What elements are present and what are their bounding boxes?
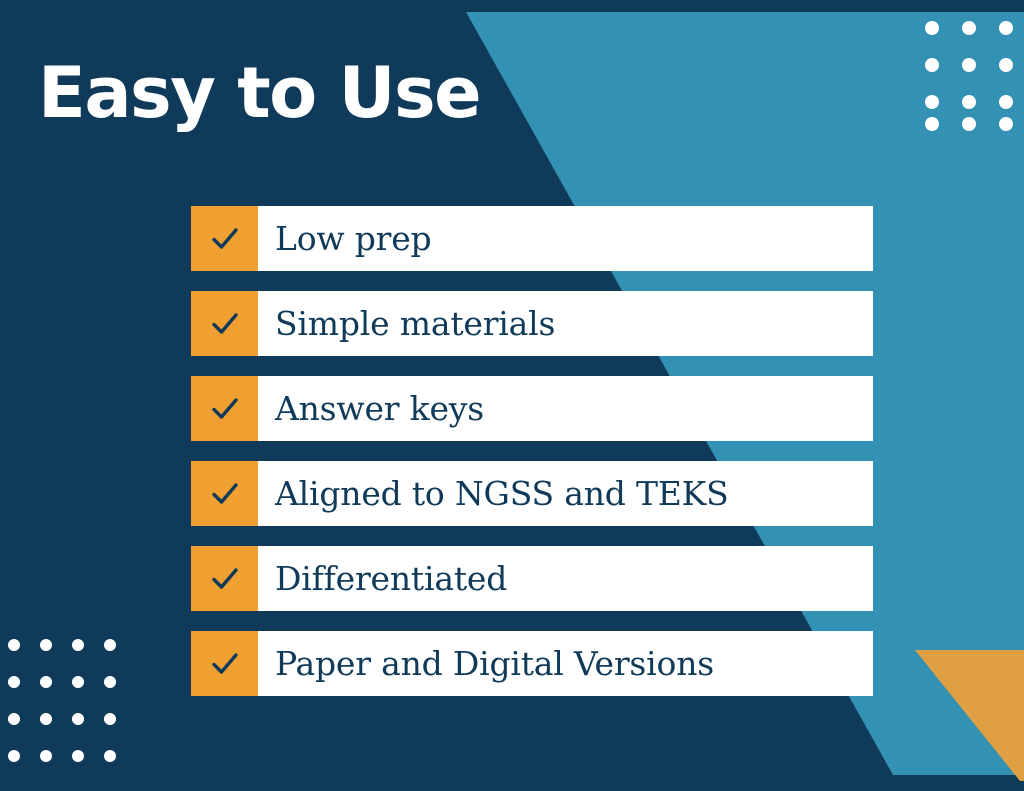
page-title: Easy to Use bbox=[38, 58, 480, 128]
list-item[interactable]: Aligned to NGSS and TEKS bbox=[191, 461, 873, 526]
list-item-label: Simple materials bbox=[258, 291, 873, 356]
list-item-label: Paper and Digital Versions bbox=[258, 631, 873, 696]
check-icon bbox=[191, 291, 258, 356]
list-item-label: Aligned to NGSS and TEKS bbox=[258, 461, 873, 526]
check-icon bbox=[191, 376, 258, 441]
slide-canvas: Easy to Use Low prep Simple materials bbox=[0, 0, 1024, 791]
check-icon bbox=[191, 546, 258, 611]
check-icon bbox=[191, 206, 258, 271]
list-item-label: Low prep bbox=[258, 206, 873, 271]
list-item[interactable]: Differentiated bbox=[191, 546, 873, 611]
list-item[interactable]: Simple materials bbox=[191, 291, 873, 356]
gold-triangle-body bbox=[915, 650, 1024, 781]
check-icon bbox=[191, 461, 258, 526]
checklist: Low prep Simple materials Answer keys bbox=[191, 206, 873, 696]
list-item[interactable]: Answer keys bbox=[191, 376, 873, 441]
list-item[interactable]: Paper and Digital Versions bbox=[191, 631, 873, 696]
list-item-label: Differentiated bbox=[258, 546, 873, 611]
list-item[interactable]: Low prep bbox=[191, 206, 873, 271]
list-item-label: Answer keys bbox=[258, 376, 873, 441]
gold-triangle bbox=[915, 650, 1024, 779]
check-icon bbox=[191, 631, 258, 696]
